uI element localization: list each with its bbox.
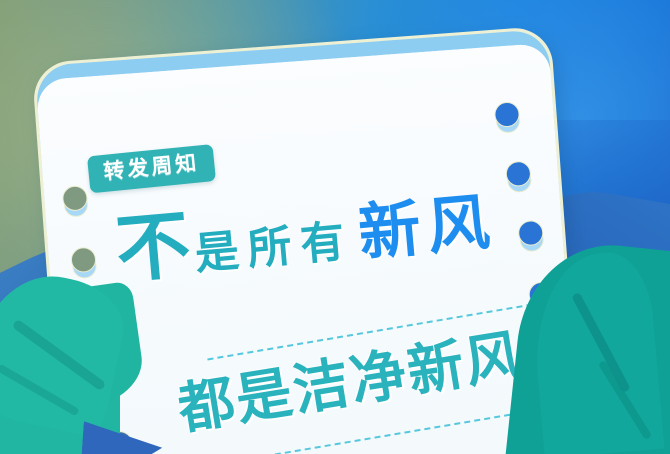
punch-hole-right-2: [505, 160, 533, 188]
headline-emphasis: 不: [113, 212, 193, 285]
headline-middle: 是所有: [193, 219, 355, 277]
punch-hole-left-1: [62, 185, 90, 213]
punch-hole-right-1: [494, 101, 522, 129]
punch-hole-left-2: [70, 246, 98, 274]
punch-hole-right-3: [517, 220, 545, 248]
left-hand: [0, 276, 210, 454]
right-hand: [486, 246, 670, 454]
headline-highlight: 新风: [356, 194, 499, 265]
badge-label: 转发周知: [103, 152, 201, 182]
poster-canvas: 转发周知 不 是所有 新风 都是洁净新风: [0, 0, 670, 454]
